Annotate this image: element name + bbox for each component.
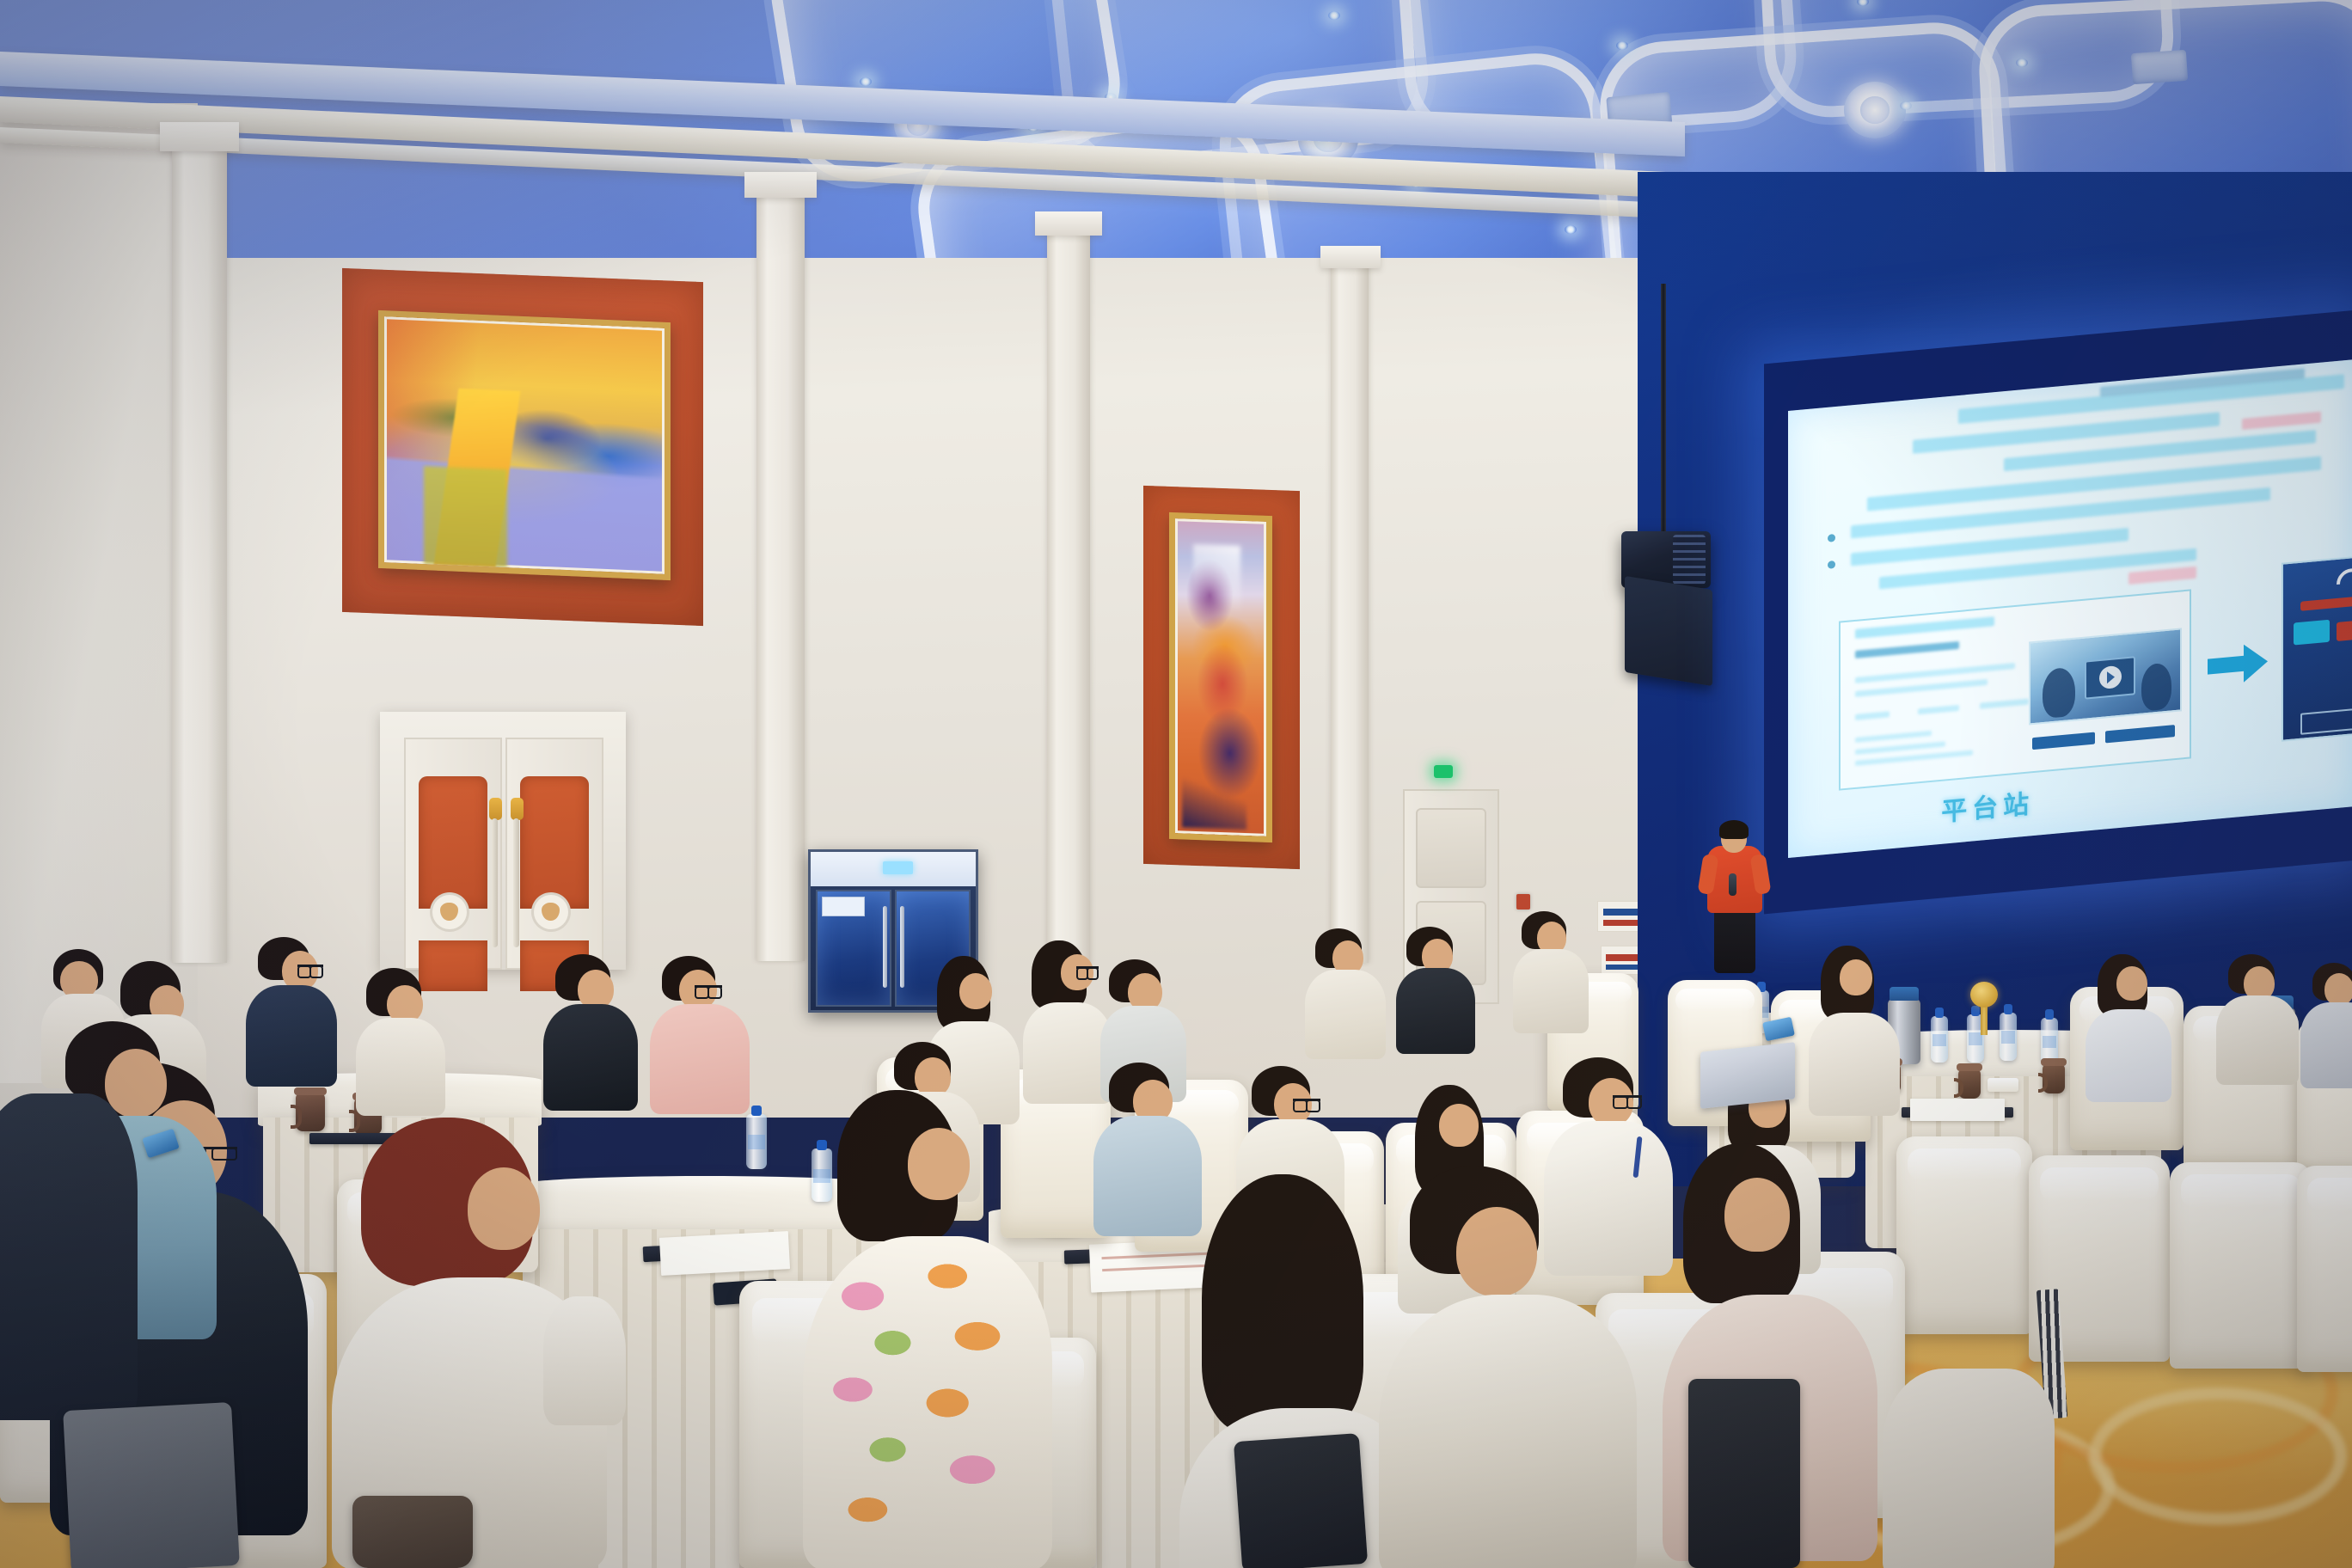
water-bottle <box>1931 1016 1948 1063</box>
person-torso <box>1305 970 1386 1059</box>
handout-paper <box>1910 1099 2005 1121</box>
door-leaf-left[interactable] <box>404 738 502 970</box>
wall-left-return <box>0 103 198 1083</box>
person-head <box>105 1049 167 1118</box>
ceramic-teacup <box>296 1093 325 1131</box>
right-arrow-icon <box>2208 655 2245 674</box>
photo-figure <box>2141 663 2171 712</box>
person-torso <box>1023 1002 1112 1104</box>
person-arm <box>543 1296 626 1425</box>
wall-pilaster-capital <box>744 172 817 198</box>
backpack <box>63 1402 240 1568</box>
slide-bullet-marker <box>1828 560 1835 569</box>
ceiling-rosette <box>1844 82 1906 138</box>
person-torso <box>246 985 337 1087</box>
door-leaf-right[interactable] <box>505 738 603 970</box>
bag <box>1688 1379 1800 1568</box>
door-decor-panel <box>419 940 487 991</box>
person-torso <box>2086 1009 2171 1102</box>
person-torso <box>1544 1121 1673 1276</box>
ceiling-downlight <box>860 77 872 86</box>
banquet-chair[interactable] <box>1896 1136 2032 1334</box>
person-head <box>1840 959 1872 995</box>
person-hair <box>1202 1174 1363 1432</box>
person-head <box>2324 973 2352 1006</box>
handbag <box>352 1496 473 1568</box>
door-pull-left[interactable] <box>492 818 498 947</box>
person-head <box>1724 1178 1790 1252</box>
person-torso <box>1093 1116 1202 1236</box>
thumb-footer-box <box>2300 701 2352 735</box>
ceramic-teacup <box>2043 1064 2065 1093</box>
slide-redacted-line <box>2128 566 2196 584</box>
cabinet-display-readout <box>883 861 913 874</box>
ceiling-downlight <box>1565 225 1577 234</box>
eyeglasses <box>1076 966 1099 971</box>
ceramic-teacup <box>1958 1069 1981 1099</box>
person-torso <box>2216 995 2299 1085</box>
carpet-swirl <box>2089 1387 2347 1525</box>
ceiling-downlight <box>1328 11 1340 20</box>
slide-bullet-marker <box>1828 534 1835 542</box>
person-torso <box>1396 968 1475 1054</box>
slide-redacted-line <box>1855 711 1890 720</box>
person-torso <box>1883 1369 2055 1568</box>
person-torso <box>2300 1002 2352 1088</box>
slide-redacted-line <box>1855 641 1960 658</box>
person-torso <box>1513 949 1589 1033</box>
slide-redacted-line <box>1855 741 1945 755</box>
projection-screen: 平台站 <box>1788 359 2352 858</box>
wall-pilaster-capital <box>1035 211 1102 236</box>
bag <box>1234 1433 1368 1568</box>
slide-content-card <box>1839 589 2190 791</box>
slide-redacted-line <box>2242 412 2321 430</box>
person-torso <box>803 1236 1052 1568</box>
slide-redacted-line <box>1855 616 1994 639</box>
wall-pilaster <box>1047 225 1090 965</box>
door-decor-panel <box>520 776 588 909</box>
handheld-microphone <box>1729 873 1736 896</box>
person-torso <box>543 1004 638 1111</box>
door-pull-right[interactable] <box>513 818 519 947</box>
eyeglasses <box>1613 1095 1642 1099</box>
abstract-vertical-painting <box>1169 512 1272 842</box>
banquet-chair[interactable] <box>2170 1162 2312 1369</box>
water-bottle <box>812 1148 832 1202</box>
ceiling-downlight <box>1900 101 1912 110</box>
person-torso <box>356 1018 445 1116</box>
wall-pilaster-capital <box>160 122 239 151</box>
slide-redacted-line <box>1855 731 1932 743</box>
ceiling-air-vent <box>2131 50 2188 84</box>
wall-switch-plate[interactable] <box>1516 894 1530 910</box>
thumb-cyan-box <box>2294 620 2331 646</box>
slide-mobile-thumbnail <box>2282 548 2352 742</box>
service-door-panel <box>1416 808 1486 888</box>
laptop[interactable] <box>1700 1042 1795 1109</box>
presenter-hair <box>1719 820 1749 839</box>
ceiling-downlight <box>1616 41 1628 50</box>
person-torso <box>650 1004 750 1114</box>
door-decor-panel <box>419 776 487 909</box>
slide-redacted-line <box>1918 705 1960 714</box>
conference-room-photo: 平台站 <box>0 0 2352 1568</box>
exit-sign-icon <box>1434 765 1453 778</box>
person-head <box>1439 1104 1479 1147</box>
slide-embedded-photo <box>2029 628 2182 725</box>
person-head <box>959 973 992 1009</box>
person-head <box>908 1128 970 1200</box>
slide-redacted-line <box>1855 663 2015 683</box>
wall-pilaster <box>172 138 227 963</box>
slide-caption-cn: 平台站 <box>1941 782 2034 829</box>
eyeglasses <box>1293 1099 1320 1103</box>
person-head <box>1456 1207 1537 1296</box>
abstract-landscape-painting <box>378 310 671 580</box>
table-number-disc <box>1970 982 1998 1008</box>
ceiling-downlight <box>2016 58 2028 67</box>
person-head <box>468 1167 540 1250</box>
slide-cta-button[interactable] <box>2105 726 2175 744</box>
wall-pilaster <box>756 187 805 961</box>
person-torso <box>1809 1013 1900 1116</box>
door-handle-left[interactable] <box>489 798 502 820</box>
slide-redacted-line <box>1855 679 1988 697</box>
door-handle-right[interactable] <box>511 798 524 820</box>
folded-napkin <box>1988 1078 2018 1092</box>
person-head <box>2116 966 2147 1001</box>
wall-pilaster-capital <box>1320 246 1381 268</box>
water-bottle <box>2041 1018 2058 1064</box>
door-medallion <box>534 895 568 929</box>
water-bottle <box>2000 1013 2017 1061</box>
water-bottle <box>746 1114 767 1169</box>
banquet-chair[interactable] <box>2297 1166 2352 1372</box>
wall-pilaster <box>1331 258 1369 963</box>
eyeglasses <box>297 965 323 969</box>
door-medallion <box>432 895 467 929</box>
person-torso <box>0 1093 138 1420</box>
eyeglasses <box>695 985 722 989</box>
cabinet-handle-left[interactable] <box>883 906 887 989</box>
slide-cta-button[interactable] <box>2032 732 2095 750</box>
cabinet-handle-right[interactable] <box>900 906 904 989</box>
thumb-red-bar <box>2337 614 2352 641</box>
photo-figure <box>2043 666 2075 719</box>
person-torso <box>1379 1295 1637 1568</box>
line-array-speaker-lower <box>1625 576 1712 686</box>
handout-paper[interactable] <box>659 1231 790 1276</box>
slide-redacted-line <box>1980 699 2029 709</box>
cabinet-label <box>822 897 865 917</box>
speaker-suspension-rod <box>1661 284 1666 554</box>
